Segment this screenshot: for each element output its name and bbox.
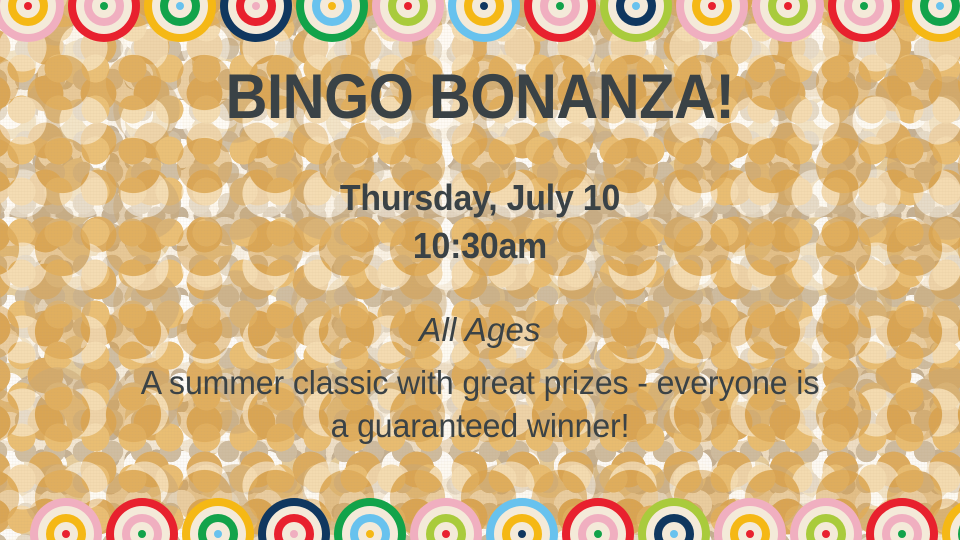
- circle-motif-ring: [62, 530, 70, 538]
- circle-motif-ring: [518, 530, 526, 538]
- circle-motif-ring: [632, 2, 640, 10]
- event-audience: All Ages: [0, 269, 960, 350]
- circle-motif: [220, 0, 292, 42]
- circle-motif: [752, 0, 824, 42]
- circle-motif: [524, 0, 596, 42]
- circle-motif-ring: [746, 530, 754, 538]
- circle-motif: [942, 498, 960, 540]
- circle-motif-ring: [936, 2, 944, 10]
- circle-motif: [866, 498, 938, 540]
- circle-motif-ring: [176, 2, 184, 10]
- event-time: 10:30am: [29, 222, 931, 270]
- circle-motif: [0, 0, 64, 42]
- circle-motif: [410, 498, 482, 540]
- circle-motif-ring: [138, 530, 146, 538]
- circle-motif-ring: [556, 2, 564, 10]
- event-datetime: Thursday, July 10 10:30am: [29, 130, 931, 269]
- circle-motif-ring: [290, 530, 298, 538]
- circle-motif-ring: [442, 530, 450, 538]
- event-date: Thursday, July 10: [29, 174, 931, 222]
- circle-motif: [714, 498, 786, 540]
- circle-motif-ring: [24, 2, 32, 10]
- circle-motif-ring: [822, 530, 830, 538]
- bottom-circle-border: [0, 496, 960, 540]
- circle-motif-ring: [898, 530, 906, 538]
- circle-motif-ring: [784, 2, 792, 10]
- circle-motif: [296, 0, 368, 42]
- event-slide: BINGO BONANZA! Thursday, July 10 10:30am…: [0, 0, 960, 540]
- circle-motif: [600, 0, 672, 42]
- event-description-line-2: a guaranteed winner!: [14, 405, 945, 448]
- circle-motif: [106, 498, 178, 540]
- circle-motif: [638, 498, 710, 540]
- circle-motif-ring: [328, 2, 336, 10]
- circle-motif: [486, 498, 558, 540]
- circle-motif: [790, 498, 862, 540]
- circle-motif-ring: [100, 2, 108, 10]
- event-description: A summer classic with great prizes - eve…: [14, 350, 945, 448]
- circle-motif: [562, 498, 634, 540]
- circle-motif: [904, 0, 960, 42]
- circle-motif: [448, 0, 520, 42]
- circle-motif: [68, 0, 140, 42]
- circle-motif-ring: [252, 2, 260, 10]
- top-circle-border: [0, 0, 960, 44]
- circle-motif: [258, 498, 330, 540]
- circle-motif-ring: [860, 2, 868, 10]
- slide-content: BINGO BONANZA! Thursday, July 10 10:30am…: [0, 44, 960, 496]
- circle-motif-ring: [366, 530, 374, 538]
- circle-motif-ring: [708, 2, 716, 10]
- circle-motif-ring: [594, 530, 602, 538]
- circle-motif: [30, 498, 102, 540]
- circle-motif: [334, 498, 406, 540]
- page-title: BINGO BONANZA!: [38, 44, 921, 130]
- circle-motif-ring: [670, 530, 678, 538]
- circle-motif: [144, 0, 216, 42]
- circle-motif: [182, 498, 254, 540]
- circle-motif: [828, 0, 900, 42]
- circle-motif-ring: [480, 2, 488, 10]
- circle-motif-ring: [404, 2, 412, 10]
- event-description-line-1: A summer classic with great prizes - eve…: [14, 362, 945, 405]
- circle-motif: [676, 0, 748, 42]
- circle-motif-ring: [214, 530, 222, 538]
- circle-motif: [372, 0, 444, 42]
